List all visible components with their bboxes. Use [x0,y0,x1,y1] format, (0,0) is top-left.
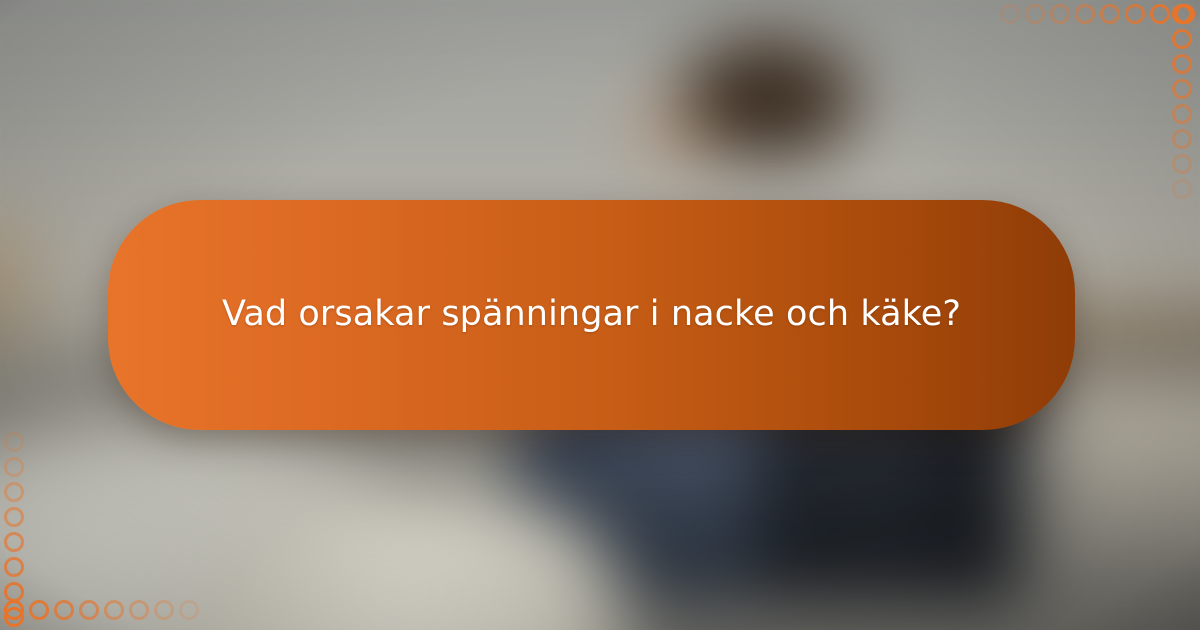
decor-rings-bottom-left-row [4,600,204,624]
decor-ring [179,600,199,620]
decor-ring [1172,79,1192,99]
decor-ring [4,582,24,602]
headline-text: Vad orsakar spänningar i nacke och käke? [108,293,1061,337]
decor-ring [1172,179,1192,199]
decor-ring [79,600,99,620]
decor-ring [1172,29,1192,49]
decor-ring [154,600,174,620]
decor-ring [29,600,49,620]
decor-ring [54,600,74,620]
decor-ring [4,557,24,577]
decor-ring [4,507,24,527]
decor-ring [1172,54,1192,74]
decor-ring [1172,104,1192,124]
decor-ring [1172,154,1192,174]
decor-ring [1025,4,1045,24]
decor-ring [4,600,24,620]
decor-ring [1125,4,1145,24]
decor-ring [1050,4,1070,24]
decor-ring [1000,4,1020,24]
decor-ring [4,532,24,552]
decor-ring [1172,4,1192,24]
social-card-canvas: Vad orsakar spänningar i nacke och käke? [0,0,1200,630]
decor-ring [1172,129,1192,149]
decor-rings-right-column [1172,4,1196,204]
decor-rings-bottom-left-column [4,432,28,622]
decor-rings-top-right-row [1000,4,1180,28]
decor-ring [129,600,149,620]
decor-ring [1100,4,1120,24]
decor-ring [4,482,24,502]
decor-ring [1150,4,1170,24]
decor-ring [1075,4,1095,24]
decor-ring [4,457,24,477]
headline-card: Vad orsakar spänningar i nacke och käke? [108,200,1075,430]
decor-ring [104,600,124,620]
decor-ring [4,432,24,452]
